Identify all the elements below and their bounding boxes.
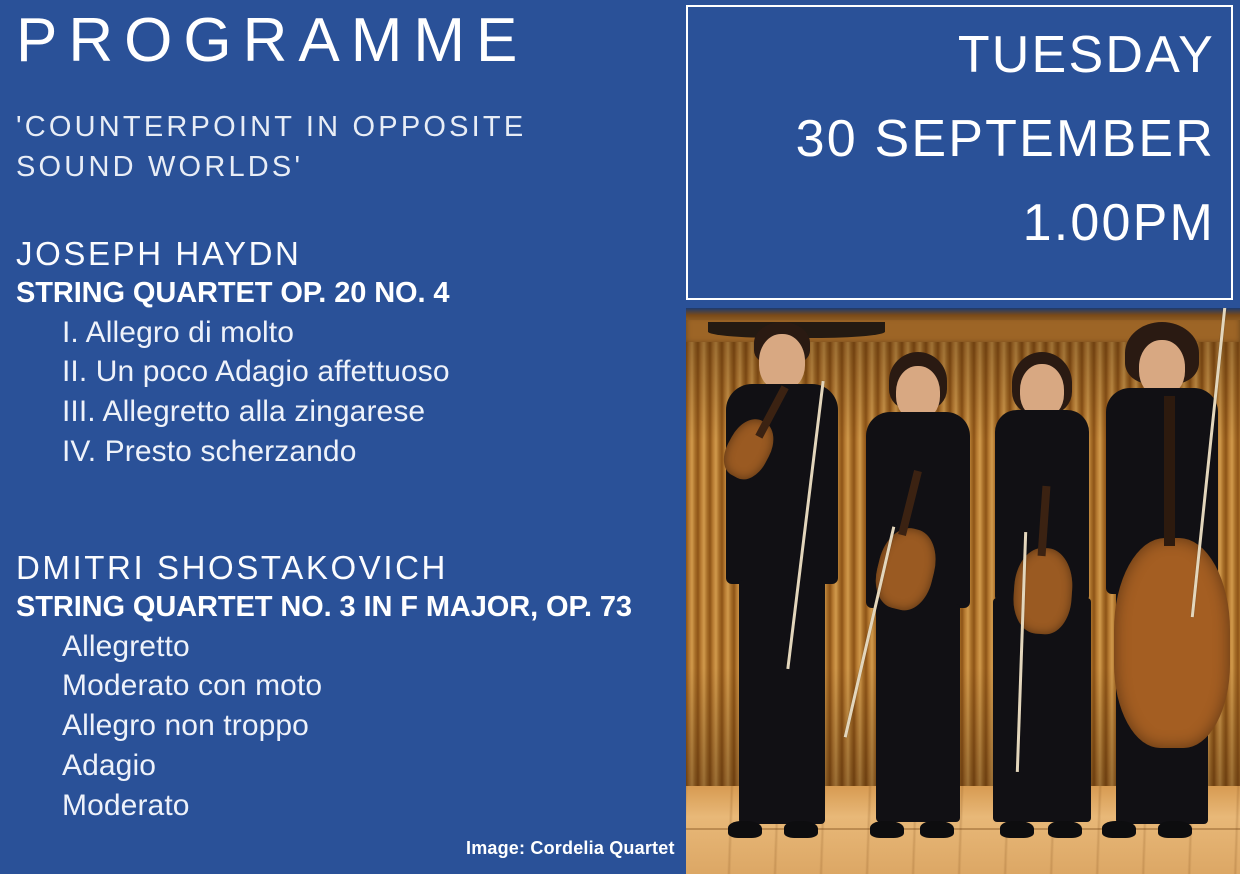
page-title: PROGRAMME [16,8,528,73]
work-title: STRING QUARTET NO. 3 IN F MAJOR, OP. 73 [16,591,686,625]
photo-floor-seam [686,828,1240,830]
shoe-right [1048,821,1082,838]
legs [876,604,960,822]
work-title: STRING QUARTET OP. 20 NO. 4 [16,277,686,311]
programme-text-column: PROGRAMME 'COUNTERPOINT IN OPPOSITE SOUN… [0,0,686,874]
movement-item: Moderato con moto [62,666,686,706]
movement-item: II. Un poco Adagio affettuoso [62,352,686,392]
movement-item: IV. Presto scherzando [62,432,686,472]
composer-name: JOSEPH HAYDN [16,236,686,273]
movement-item: Adagio [62,746,686,786]
shoe-left [870,821,904,838]
body [726,384,838,584]
shoe-left [1000,821,1034,838]
photo-top-band [686,308,1240,320]
musician-violinist-1 [722,322,842,822]
shoe-right [784,821,818,838]
legs [739,580,825,824]
date-box: TUESDAY 30 SEPTEMBER 1.00PM [686,5,1233,300]
movement-list: I. Allegro di molto II. Un poco Adagio a… [0,313,686,473]
movement-item: III. Allegretto alla zingarese [62,392,686,432]
event-day: TUESDAY [796,13,1215,97]
movement-item: I. Allegro di molto [62,313,686,353]
movement-item: Moderato [62,786,686,826]
event-date: 30 SEPTEMBER [796,97,1215,181]
work-block-shostakovich: DMITRI SHOSTAKOVICH STRING QUARTET NO. 3… [0,550,686,826]
shoe-left [728,821,762,838]
work-block-haydn: JOSEPH HAYDN STRING QUARTET OP. 20 NO. 4… [0,236,686,472]
quartet-photo [686,308,1240,874]
shoe-right [920,821,954,838]
movement-list: Allegretto Moderato con moto Allegro non… [0,627,686,826]
composer-name: DMITRI SHOSTAKOVICH [16,550,686,587]
image-credit: Image: Cordelia Quartet [466,838,675,859]
programme-subtitle: 'COUNTERPOINT IN OPPOSITE SOUND WORLDS' [16,107,656,187]
cello [1114,538,1230,748]
event-time: 1.00PM [796,181,1215,265]
concert-programme-poster: PROGRAMME 'COUNTERPOINT IN OPPOSITE SOUN… [0,0,1240,874]
head [759,334,805,390]
shoe-right [1158,821,1192,838]
musician-violinist-3 [986,352,1098,822]
date-box-content: TUESDAY 30 SEPTEMBER 1.00PM [796,13,1215,266]
musician-violinist-2 [862,352,974,822]
cello-neck [1164,396,1175,546]
musician-cellist [1098,322,1226,822]
shoe-left [1102,821,1136,838]
movement-item: Allegro non troppo [62,706,686,746]
movement-item: Allegretto [62,627,686,667]
